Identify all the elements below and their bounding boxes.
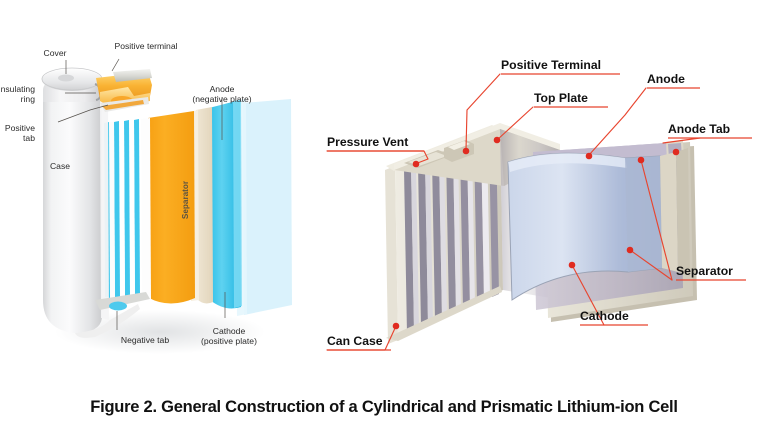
case-cut-edge xyxy=(100,99,109,320)
separator-right-edge-2 xyxy=(676,148,690,276)
dot-separator-side xyxy=(627,247,634,254)
label-separator: Separator xyxy=(676,264,733,278)
label-cathode-line2: (positive plate) xyxy=(201,336,257,346)
label-anode-line2: (negative plate) xyxy=(192,94,251,104)
dot-anode xyxy=(586,153,593,160)
label-can-case: Can Case xyxy=(327,334,383,348)
label-case: Case xyxy=(50,161,70,171)
case-body xyxy=(43,90,102,333)
label-anode: Anode xyxy=(647,72,685,86)
prismatic-cell-illustration: Pressure Vent Positive Terminal Top Plat… xyxy=(327,58,752,350)
figure-image-area: Cover Positive terminal Insulating ring … xyxy=(0,0,768,390)
label-cathode-line1: Cathode xyxy=(213,326,246,336)
label-insulating-ring-line1: Insulating xyxy=(0,84,35,94)
dot-positive-terminal xyxy=(463,148,470,155)
cover-vent-hole xyxy=(58,75,74,82)
label-top-plate: Top Plate xyxy=(534,91,588,105)
battery-construction-diagram: Cover Positive terminal Insulating ring … xyxy=(0,0,768,390)
dot-anode-tab xyxy=(673,149,680,156)
label-positive-tab-line1: Positive xyxy=(5,123,35,133)
label-negative-tab: Negative tab xyxy=(121,335,169,345)
inner-spacer xyxy=(141,118,151,299)
label-positive-terminal: Positive Terminal xyxy=(501,58,601,72)
separator-right-edge xyxy=(660,152,678,272)
label-insulating-ring-line2: ring xyxy=(21,94,36,104)
cylindrical-cell-illustration: Cover Positive terminal Insulating ring … xyxy=(0,41,292,354)
cathode-right-fold xyxy=(625,156,662,272)
label-cathode: Cathode xyxy=(580,309,629,323)
negative-tab xyxy=(109,302,127,311)
label-separator: Separator xyxy=(181,180,190,219)
dot-cathode xyxy=(569,262,576,269)
figure-page: Cover Positive terminal Insulating ring … xyxy=(0,0,768,436)
label-anode-tab: Anode Tab xyxy=(668,122,730,136)
dot-separator-top xyxy=(638,157,645,164)
anode-outer-sheet xyxy=(243,99,292,315)
label-cover: Cover xyxy=(44,48,67,58)
label-anode-line1: Anode xyxy=(210,84,235,94)
dot-pressure-vent xyxy=(413,161,420,168)
label-positive-tab-line2: tab xyxy=(23,133,35,143)
anode-highlight xyxy=(233,100,242,308)
dot-can-case xyxy=(393,323,400,330)
label-pressure-vent: Pressure Vent xyxy=(327,135,408,149)
label-positive-terminal: Positive terminal xyxy=(114,41,177,51)
dot-top-plate xyxy=(494,137,501,144)
figure-caption: Figure 2. General Construction of a Cyli… xyxy=(0,398,768,417)
